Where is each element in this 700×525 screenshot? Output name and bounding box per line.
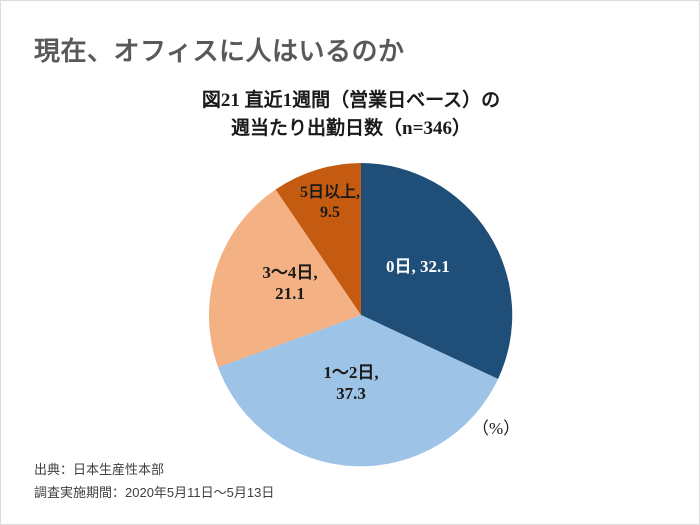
pie-chart xyxy=(209,163,513,467)
source-line: 出典：日本生産性本部 xyxy=(34,459,274,482)
pie-chart-svg xyxy=(209,163,513,467)
survey-period-line: 調査実施期間：2020年5月11日〜5月13日 xyxy=(34,482,274,505)
chart-title-line-2: 週当たり出勤日数（n=346） xyxy=(1,115,700,143)
slide-canvas: 現在、オフィスに人はいるのか 図21 直近1週間（営業日ベース）の 週当たり出勤… xyxy=(0,0,700,525)
page-title: 現在、オフィスに人はいるのか xyxy=(34,31,404,68)
chart-title-line-1: 図21 直近1週間（営業日ベース）の xyxy=(1,87,700,115)
chart-title: 図21 直近1週間（営業日ベース）の 週当たり出勤日数（n=346） xyxy=(1,87,700,142)
unit-label: （%） xyxy=(472,414,520,439)
source-note: 出典：日本生産性本部 調査実施期間：2020年5月11日〜5月13日 xyxy=(34,459,274,505)
